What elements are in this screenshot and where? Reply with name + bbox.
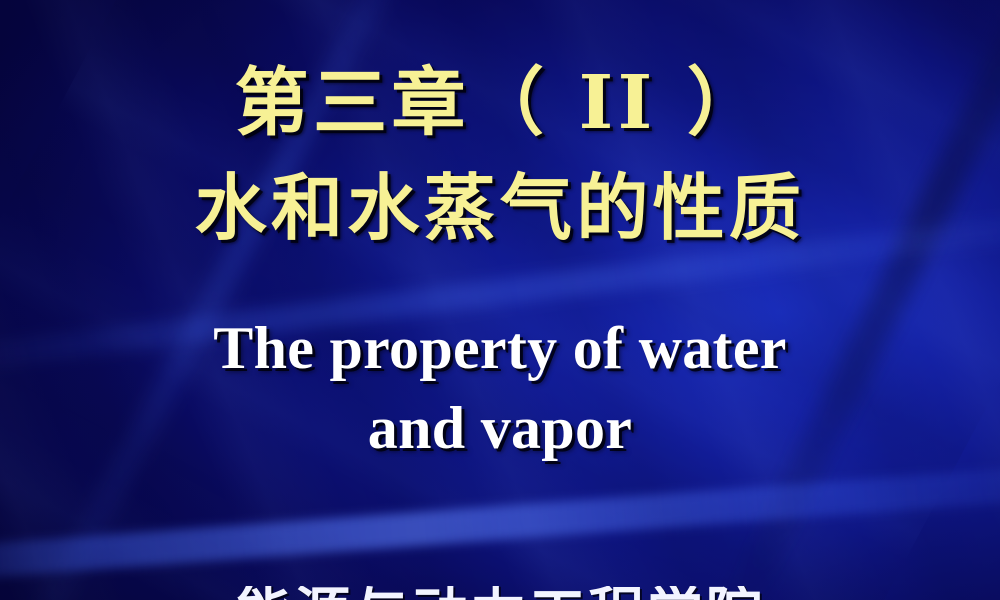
chinese-footer-line: 能源与动力工程学院	[0, 586, 1000, 600]
presentation-slide: 第三章（ II ） 水和水蒸气的性质 The property of water…	[0, 0, 1000, 600]
footer-clip-region: 能源与动力工程学院	[0, 586, 1000, 600]
english-title-line-2: and vapor	[0, 398, 1000, 458]
slide-content: 第三章（ II ） 水和水蒸气的性质 The property of water…	[0, 0, 1000, 600]
chinese-title-line-2: 水和水蒸气的性质	[0, 172, 1000, 244]
english-title-line-1: The property of water	[0, 318, 1000, 378]
chinese-title-line-1: 第三章（ II ）	[0, 66, 1000, 140]
